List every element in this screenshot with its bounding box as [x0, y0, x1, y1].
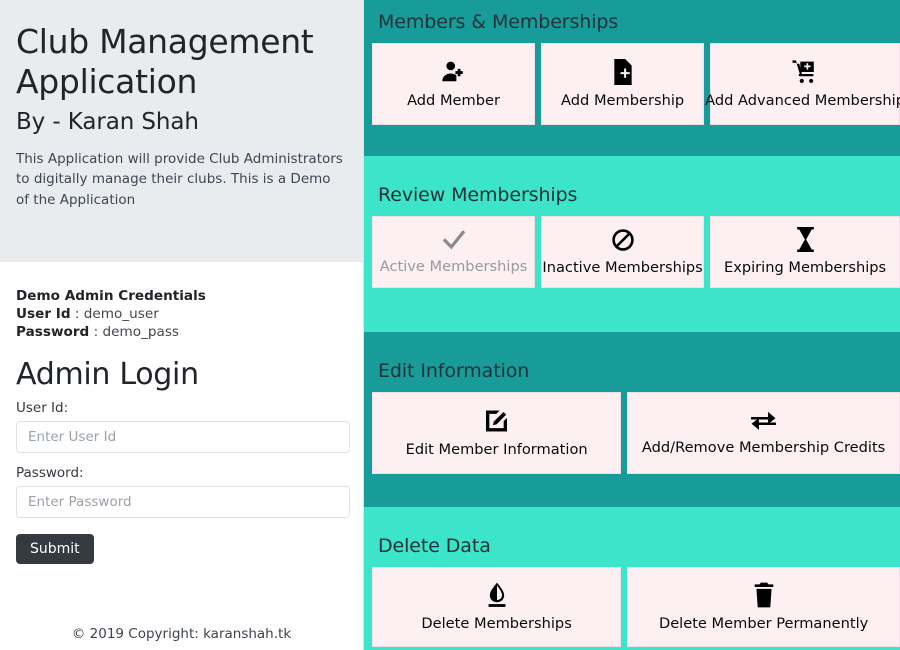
user-plus-icon	[441, 59, 467, 85]
card-label: Add Member	[407, 92, 500, 109]
check-icon	[442, 229, 466, 251]
app-root: Club Management Application By - Karan S…	[0, 0, 900, 650]
app-author: By - Karan Shah	[16, 109, 347, 135]
card-row-edit: Edit Member Information Add/Remove Membe…	[364, 392, 900, 474]
actions-panel: Members & Memberships Add Member	[364, 0, 900, 650]
user-id-field-group: User Id:	[16, 400, 347, 453]
card-label: Add/Remove Membership Credits	[642, 439, 885, 456]
section-edit-information: Edit Information Edit Member Information	[364, 332, 900, 507]
section-title-delete: Delete Data	[364, 507, 900, 567]
card-row-members: Add Member Add Membership	[364, 43, 900, 125]
card-label: Delete Memberships	[421, 615, 571, 632]
login-area: Demo Admin Credentials User Id : demo_us…	[0, 262, 363, 564]
card-delete-member-permanently[interactable]: Delete Member Permanently	[627, 567, 900, 647]
section-members-memberships: Members & Memberships Add Member	[364, 0, 900, 156]
password-field-group: Password:	[16, 465, 347, 518]
card-expiring-memberships[interactable]: Expiring Memberships	[710, 216, 900, 288]
section-delete-data: Delete Data Delete Memberships	[364, 507, 900, 650]
trash-icon	[753, 582, 775, 608]
user-id-input[interactable]	[16, 421, 350, 453]
section-review-memberships: Review Memberships Active Memberships	[364, 156, 900, 332]
app-description: This Application will provide Club Admin…	[16, 149, 346, 212]
card-label: Add Membership	[561, 92, 684, 109]
card-row-review: Active Memberships Inactive Memberships	[364, 216, 900, 288]
demo-password-label: Password	[16, 324, 89, 340]
demo-credentials-heading: Demo Admin Credentials	[16, 288, 347, 304]
password-input[interactable]	[16, 486, 350, 518]
card-label: Expiring Memberships	[724, 259, 886, 276]
section-title-edit: Edit Information	[364, 332, 900, 392]
ban-icon	[611, 228, 635, 252]
demo-user-id-line: User Id : demo_user	[16, 306, 347, 322]
card-add-member[interactable]: Add Member	[372, 43, 535, 125]
page-title: Club Management Application	[16, 22, 347, 103]
section-title-members: Members & Memberships	[364, 0, 900, 43]
edit-pencil-icon	[484, 408, 509, 434]
user-id-label: User Id:	[16, 400, 347, 416]
card-add-remove-membership-credits[interactable]: Add/Remove Membership Credits	[627, 392, 900, 474]
exchange-arrows-icon	[750, 410, 777, 432]
fill-drip-icon	[485, 582, 509, 608]
card-add-advanced-membership[interactable]: Add Advanced Membership	[710, 43, 900, 125]
demo-password-line: Password : demo_pass	[16, 324, 347, 340]
demo-password-value: : demo_pass	[94, 324, 179, 340]
card-edit-member-information[interactable]: Edit Member Information	[372, 392, 621, 474]
app-jumbotron: Club Management Application By - Karan S…	[0, 0, 363, 262]
card-inactive-memberships[interactable]: Inactive Memberships	[541, 216, 704, 288]
card-label: Delete Member Permanently	[659, 615, 868, 632]
copyright-text: © 2019 Copyright: karanshah.tk	[0, 626, 363, 642]
admin-login-heading: Admin Login	[16, 357, 347, 392]
sidebar-panel: Club Management Application By - Karan S…	[0, 0, 364, 650]
card-label: Inactive Memberships	[542, 259, 702, 276]
card-add-membership[interactable]: Add Membership	[541, 43, 704, 125]
section-title-review: Review Memberships	[364, 156, 900, 216]
hourglass-icon	[796, 227, 815, 252]
card-row-delete: Delete Memberships Delete Member Permane…	[364, 567, 900, 647]
card-label: Edit Member Information	[406, 441, 588, 458]
card-active-memberships[interactable]: Active Memberships	[372, 216, 535, 288]
file-plus-icon	[612, 59, 634, 85]
cart-plus-icon	[792, 59, 819, 85]
card-delete-memberships[interactable]: Delete Memberships	[372, 567, 621, 647]
password-label: Password:	[16, 465, 347, 481]
submit-button[interactable]: Submit	[16, 534, 94, 564]
demo-user-id-label: User Id	[16, 306, 71, 322]
demo-user-id-value: : demo_user	[75, 306, 159, 322]
card-label: Active Memberships	[380, 258, 528, 275]
card-label: Add Advanced Membership	[705, 92, 900, 109]
